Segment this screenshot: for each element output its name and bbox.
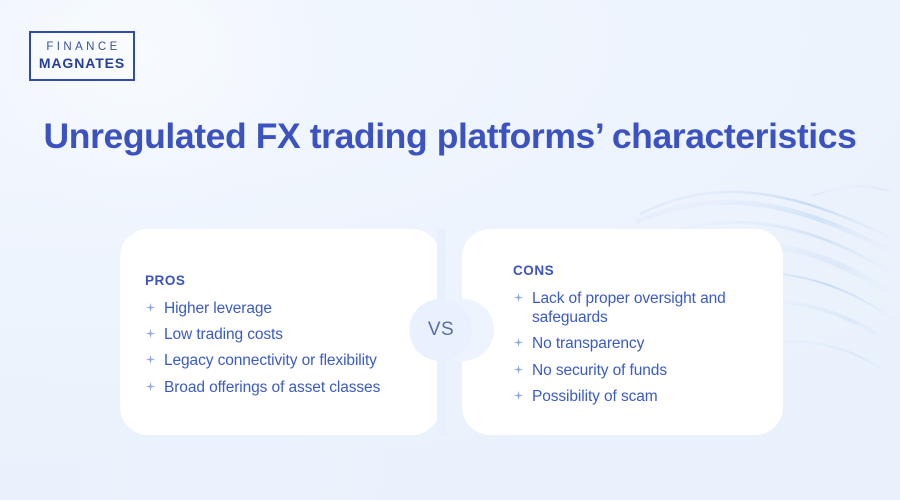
list-item: Possibility of scam	[513, 387, 763, 406]
list-item-label: No security of funds	[532, 361, 667, 380]
list-item-label: Low trading costs	[164, 325, 283, 344]
list-item: No security of funds	[513, 361, 763, 380]
list-item-label: Possibility of scam	[532, 387, 658, 406]
comparison-cards: VS PROS Higher leverage Low trading cost…	[0, 0, 900, 500]
list-item: No transparency	[513, 334, 763, 353]
list-item-label: Lack of proper oversight and safeguards	[532, 289, 763, 327]
sparkle-icon	[145, 378, 156, 395]
list-item: Higher leverage	[145, 299, 435, 318]
list-item: Lack of proper oversight and safeguards	[513, 289, 763, 327]
sparkle-icon	[145, 351, 156, 368]
sparkle-icon	[145, 325, 156, 342]
pros-list: Higher leverage Low trading costs Legacy…	[145, 299, 435, 397]
list-item-label: Higher leverage	[164, 299, 272, 318]
cons-card-body: CONS Lack of proper oversight and safegu…	[513, 263, 763, 406]
pros-card-body: PROS Higher leverage Low trading costs	[145, 273, 435, 397]
list-item: Broad offerings of asset classes	[145, 378, 435, 397]
sparkle-icon	[513, 334, 524, 351]
sparkle-icon	[145, 299, 156, 316]
slide-canvas: FINANCE MAGNATES Unregulated FX trading …	[0, 0, 900, 500]
cons-heading: CONS	[513, 263, 763, 278]
sparkle-icon	[513, 289, 524, 306]
sparkle-icon	[513, 361, 524, 378]
list-item: Legacy connectivity or flexibility	[145, 351, 435, 370]
list-item: Low trading costs	[145, 325, 435, 344]
list-item-label: No transparency	[532, 334, 644, 353]
cons-list: Lack of proper oversight and safeguards …	[513, 289, 763, 406]
list-item-label: Legacy connectivity or flexibility	[164, 351, 377, 370]
sparkle-icon	[513, 387, 524, 404]
list-item-label: Broad offerings of asset classes	[164, 378, 380, 397]
pros-heading: PROS	[145, 273, 435, 288]
